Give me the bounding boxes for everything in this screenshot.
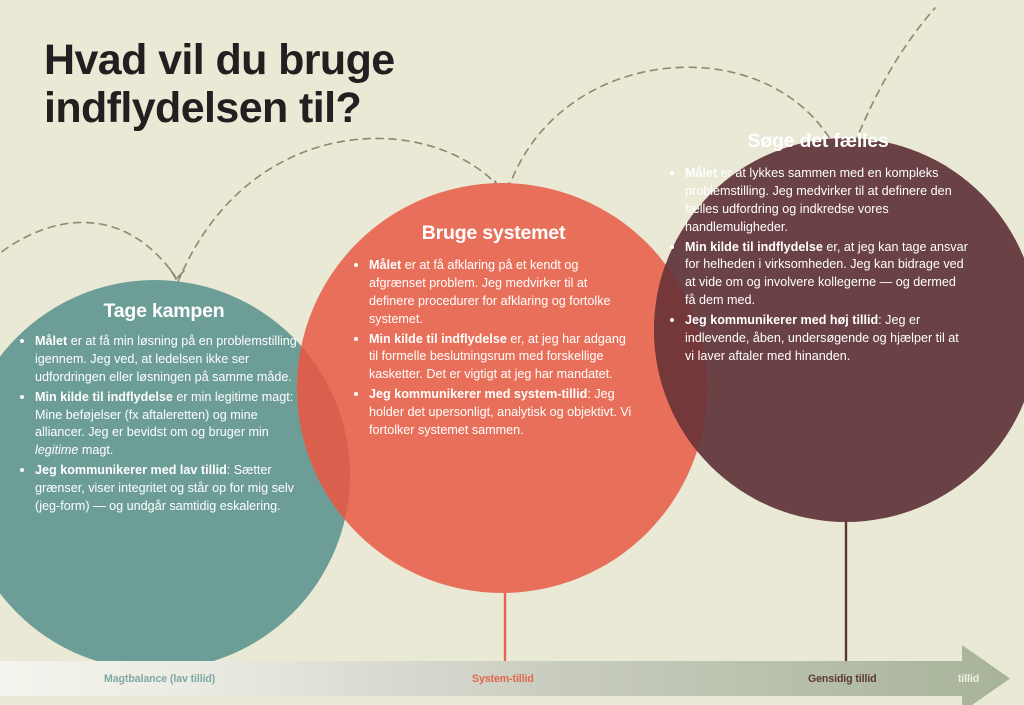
list-item: Min kilde til indflydelse er, at jeg har… <box>352 331 635 385</box>
circle-content-bruge-systemet: Bruge systemet Målet er at få afklaring … <box>352 222 635 442</box>
circle-heading-1: Tage kampen <box>18 300 310 323</box>
list-item: Jeg kommunikerer med system-tillid: Jeg … <box>352 386 635 440</box>
list-item: Jeg kommunikerer med høj tillid: Jeg er … <box>668 312 968 366</box>
bullet-dot-icon <box>670 171 674 175</box>
arrowhead-1 <box>170 269 184 279</box>
bullet-lead: Målet <box>35 334 67 348</box>
axis-end-label: tillid <box>958 673 979 685</box>
bullet-list-3: Målet er at lykkes sammen med en komplek… <box>668 165 968 366</box>
bullet-list-1: Målet er at få min løsning på en problem… <box>18 333 310 516</box>
bullet-list-2: Målet er at få afklaring på et kendt og … <box>352 257 635 440</box>
bullet-dot-icon <box>670 245 674 249</box>
bullet-dot-icon <box>20 339 24 343</box>
bullet-lead: Jeg kommunikerer med lav tillid <box>35 463 227 477</box>
bullet-dot-icon <box>354 337 358 341</box>
circle-content-tage-kampen: Tage kampen Målet er at få min løsning p… <box>18 300 310 518</box>
bullet-lead: Jeg kommunikerer med høj tillid <box>685 313 878 327</box>
bullet-dot-icon <box>20 468 24 472</box>
bullet-dot-icon <box>20 395 24 399</box>
title-line-2: indflydelsen til? <box>44 84 604 132</box>
circle-heading-2: Bruge systemet <box>352 222 635 245</box>
list-item: Målet er at få min løsning på en problem… <box>18 333 310 387</box>
arc-1 <box>0 222 175 276</box>
list-item: Jeg kommunikerer med lav tillid: Sætter … <box>18 462 310 516</box>
bullet-italic: legitime <box>35 443 78 457</box>
axis-label-magtbalance: Magtbalance (lav tillid) <box>104 673 215 685</box>
bullet-tail: magt. <box>78 443 113 457</box>
axis-label-system-tillid: System-tillid <box>472 673 534 685</box>
list-item: Min kilde til indflydelse er min legitim… <box>18 389 310 461</box>
page-title: Hvad vil du bruge indflydelsen til? <box>44 36 604 132</box>
bullet-lead: Min kilde til indflydelse <box>35 390 173 404</box>
bullet-lead: Målet <box>369 258 401 272</box>
bullet-lead: Min kilde til indflydelse <box>685 240 823 254</box>
bullet-dot-icon <box>354 392 358 396</box>
list-item: Min kilde til indflydelse er, at jeg kan… <box>668 239 968 311</box>
bullet-rest: er at lykkes sammen med en kompleks prob… <box>685 166 952 234</box>
bullet-dot-icon <box>354 263 358 267</box>
bullet-rest: er at få min løsning på en problemstilli… <box>35 334 297 384</box>
bullet-lead: Min kilde til indflydelse <box>369 332 507 346</box>
title-line-1: Hvad vil du bruge <box>44 36 604 84</box>
circle-heading-3: Søge det fælles <box>668 130 968 153</box>
infographic-canvas: Hvad vil du bruge indflydelsen til? Tage… <box>0 0 1024 705</box>
bullet-rest: er at få afklaring på et kendt og afgræn… <box>369 258 611 326</box>
list-item: Målet er at få afklaring på et kendt og … <box>352 257 635 329</box>
list-item: Målet er at lykkes sammen med en komplek… <box>668 165 968 237</box>
bullet-lead: Målet <box>685 166 717 180</box>
bullet-dot-icon <box>670 318 674 322</box>
axis-label-gensidig-tillid: Gensidig tillid <box>808 673 877 685</box>
circle-content-soege-det-faelles: Søge det fælles Målet er at lykkes samme… <box>668 130 968 368</box>
bullet-lead: Jeg kommunikerer med system-tillid <box>369 387 587 401</box>
